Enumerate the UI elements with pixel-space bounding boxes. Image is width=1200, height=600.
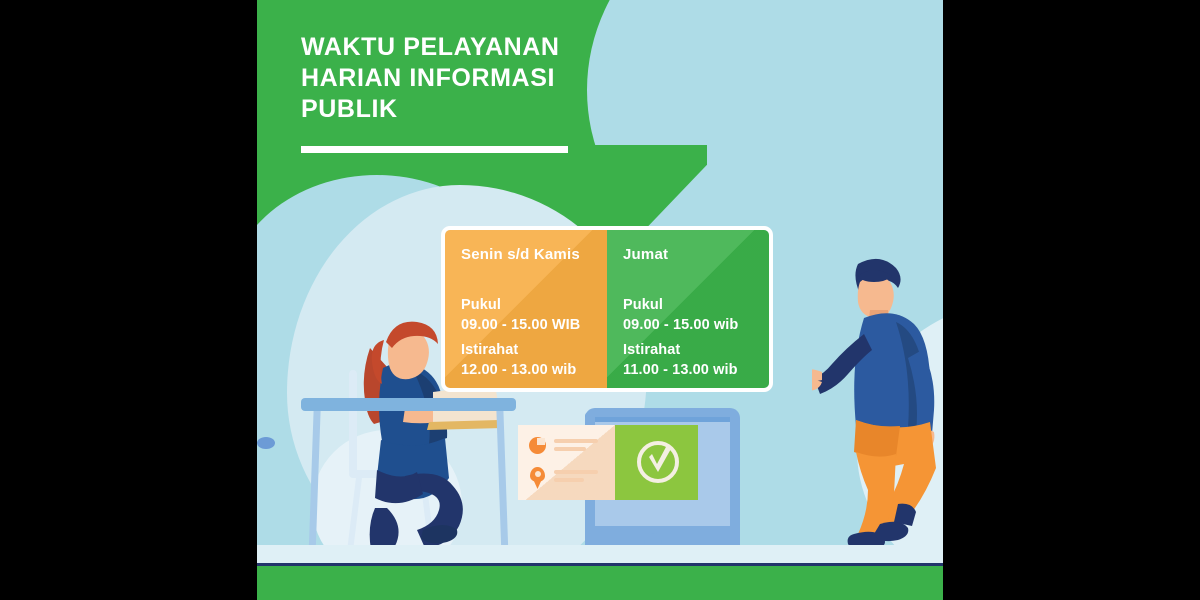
break-label: Istirahat — [623, 341, 769, 361]
poster-canvas: WAKTU PELAYANAN HARIAN INFORMASI PUBLIK — [257, 0, 943, 600]
clock-pie-icon — [529, 437, 546, 454]
schedule-card: Senin s/d Kamis Pukul 09.00 - 15.00 WIB … — [441, 226, 773, 392]
green-footer-band — [257, 566, 943, 600]
info-card-with-checkmark-illustration — [518, 425, 698, 500]
checkmark-glyph — [645, 445, 675, 479]
title-line-2: HARIAN INFORMASI — [301, 64, 555, 92]
schedule-column-monday-thursday: Senin s/d Kamis Pukul 09.00 - 15.00 WIB … — [445, 230, 607, 388]
poster-title: WAKTU PELAYANAN HARIAN INFORMASI PUBLIK — [301, 32, 621, 125]
title-line-1: WAKTU PELAYANAN — [301, 33, 560, 61]
blue-dot-accent — [257, 437, 275, 449]
break-value: 12.00 - 13.00 wib — [461, 361, 607, 381]
hours-label: Pukul — [461, 296, 607, 316]
floor-band — [257, 545, 943, 565]
hours-label: Pukul — [623, 296, 769, 316]
schedule-day-label: Senin s/d Kamis — [461, 246, 607, 263]
screenshot-stage: WAKTU PELAYANAN HARIAN INFORMASI PUBLIK — [0, 0, 1200, 600]
title-underline — [301, 146, 568, 153]
title-line-3: PUBLIK — [301, 95, 398, 123]
hours-value: 09.00 - 15.00 WIB — [461, 316, 607, 336]
man-pointing-illustration — [812, 252, 943, 560]
break-label: Istirahat — [461, 341, 607, 361]
schedule-day-label: Jumat — [623, 246, 769, 263]
schedule-column-friday: Jumat Pukul 09.00 - 15.00 wib Istirahat … — [607, 230, 769, 388]
map-pin-icon — [530, 467, 545, 482]
hours-value: 09.00 - 15.00 wib — [623, 316, 769, 336]
break-value: 11.00 - 13.00 wib — [623, 361, 769, 381]
